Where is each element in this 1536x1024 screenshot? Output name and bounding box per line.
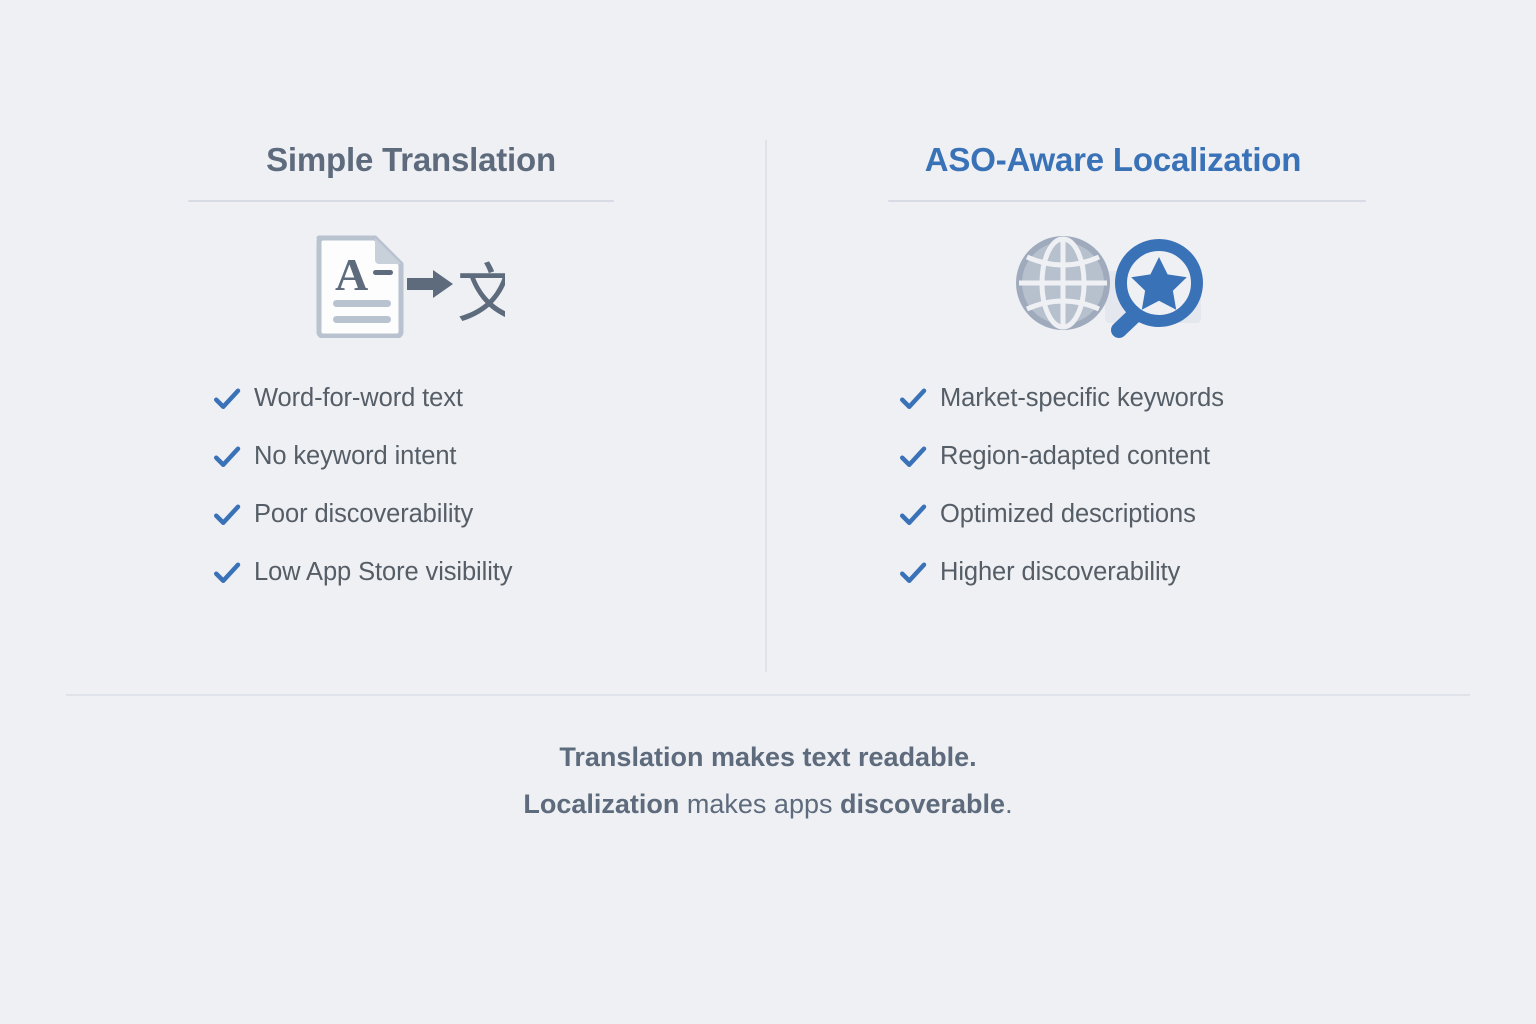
left-icon-band: A 文 [66, 226, 746, 344]
left-feature-list: Word-for-word text No keyword intent Poo… [66, 370, 746, 602]
svg-text:A: A [335, 249, 368, 300]
list-item: Region-adapted content [898, 428, 1446, 486]
list-item-label: Optimized descriptions [940, 500, 1196, 529]
footer-line2-part2: makes apps [679, 789, 840, 819]
check-icon [898, 442, 928, 472]
footer-line1-part2: makes text readable. [703, 742, 976, 772]
list-item: Poor discoverability [212, 486, 746, 544]
list-item-label: Region-adapted content [940, 442, 1210, 471]
list-item: No keyword intent [212, 428, 746, 486]
list-item: Higher discoverability [898, 544, 1446, 602]
list-item: Optimized descriptions [898, 486, 1446, 544]
check-icon [212, 558, 242, 588]
comparison-column-aso-aware-localization: ASO-Aware Localization [766, 140, 1446, 602]
check-icon [212, 442, 242, 472]
footer-line1-part1: Translation [559, 742, 703, 772]
globe-magnifier-star-icon [1013, 231, 1213, 339]
list-item: Market-specific keywords [898, 370, 1446, 428]
right-feature-list: Market-specific keywords Region-adapted … [766, 370, 1446, 602]
check-icon [212, 500, 242, 530]
list-item-label: Low App Store visibility [254, 558, 512, 587]
horizontal-divider [66, 694, 1470, 696]
left-heading-underline [188, 200, 614, 202]
footer-line-1: Translation makes text readable. [0, 734, 1536, 781]
arrow-right-icon [407, 270, 453, 298]
comparison-column-simple-translation: Simple Translation A [66, 140, 746, 602]
footer-line2-part3: discoverable [840, 789, 1005, 819]
svg-text:文: 文 [457, 258, 505, 332]
left-column-heading: Simple Translation [66, 140, 746, 180]
infographic-canvas: Simple Translation A [0, 0, 1536, 1024]
check-icon [898, 384, 928, 414]
check-icon [212, 384, 242, 414]
globe-icon [1019, 239, 1107, 327]
footer-line2-part4: . [1005, 789, 1013, 819]
list-item-label: No keyword intent [254, 442, 456, 471]
list-item: Word-for-word text [212, 370, 746, 428]
vertical-divider [765, 140, 767, 672]
right-column-heading: ASO-Aware Localization [766, 140, 1446, 180]
list-item-label: Poor discoverability [254, 500, 473, 529]
list-item-label: Higher discoverability [940, 558, 1180, 587]
footer-line2-part1: Localization [523, 789, 679, 819]
check-icon [898, 558, 928, 588]
list-item-label: Word-for-word text [254, 384, 463, 413]
right-heading-underline [888, 200, 1366, 202]
right-icon-band [766, 226, 1446, 344]
list-item-label: Market-specific keywords [940, 384, 1224, 413]
list-item: Low App Store visibility [212, 544, 746, 602]
check-icon [898, 500, 928, 530]
magnifier-icon [1119, 245, 1197, 330]
footer-summary: Translation makes text readable. Localiz… [0, 734, 1536, 828]
document-translation-icon: A 文 [313, 232, 505, 338]
footer-line-2: Localization makes apps discoverable. [0, 781, 1536, 828]
